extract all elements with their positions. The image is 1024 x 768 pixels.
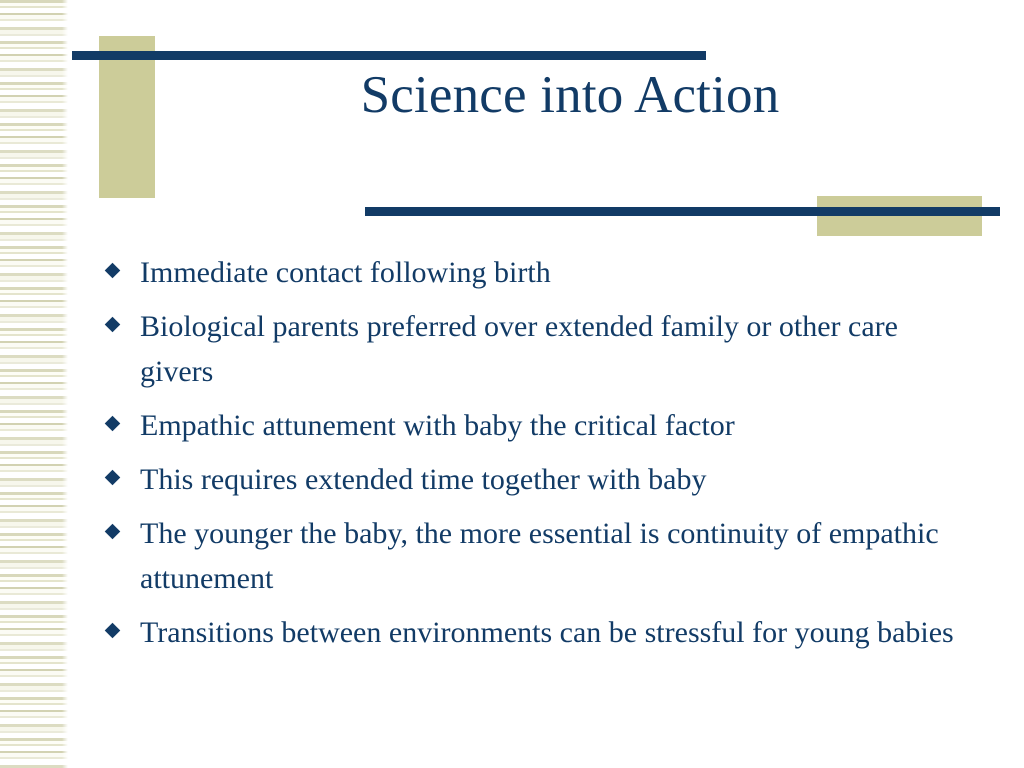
list-item-text: Transitions between environments can be … bbox=[140, 610, 974, 655]
list-item: Empathic attunement with baby the critic… bbox=[104, 403, 974, 448]
slide-canvas: Science into Action Immediate contact fo… bbox=[0, 0, 1024, 768]
navy-rule-bottom-decoration bbox=[365, 207, 1000, 216]
khaki-right-block-decoration bbox=[817, 196, 982, 236]
list-item: Transitions between environments can be … bbox=[104, 610, 974, 655]
diamond-bullet-icon bbox=[105, 524, 121, 540]
khaki-column-decoration bbox=[99, 36, 155, 198]
diamond-bullet-icon bbox=[105, 317, 121, 333]
list-item: This requires extended time together wit… bbox=[104, 457, 974, 502]
navy-rule-top-decoration bbox=[72, 51, 706, 60]
list-item: Immediate contact following birth bbox=[104, 250, 974, 295]
left-stripe-decoration bbox=[0, 0, 68, 768]
list-item-text: Empathic attunement with baby the critic… bbox=[140, 403, 974, 448]
diamond-bullet-icon bbox=[105, 263, 121, 279]
bullet-list: Immediate contact following birth Biolog… bbox=[104, 250, 974, 664]
page-title: Science into Action bbox=[180, 66, 960, 124]
list-item-text: Biological parents preferred over extend… bbox=[140, 304, 974, 394]
diamond-bullet-icon bbox=[105, 470, 121, 486]
list-item-text: This requires extended time together wit… bbox=[140, 457, 974, 502]
list-item: Biological parents preferred over extend… bbox=[104, 304, 974, 394]
list-item: The younger the baby, the more essential… bbox=[104, 511, 974, 601]
list-item-text: The younger the baby, the more essential… bbox=[140, 511, 974, 601]
diamond-bullet-icon bbox=[105, 416, 121, 432]
list-item-text: Immediate contact following birth bbox=[140, 250, 974, 295]
diamond-bullet-icon bbox=[105, 623, 121, 639]
